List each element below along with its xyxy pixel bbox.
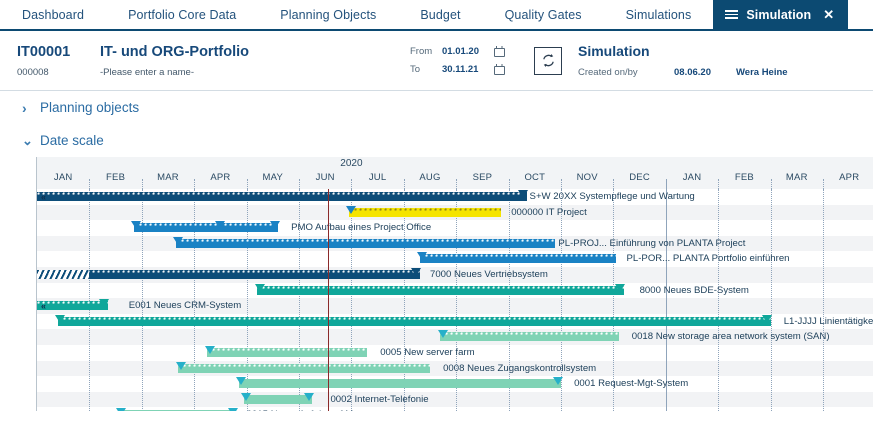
gantt-mid-marker[interactable] — [215, 221, 225, 229]
gantt-gridline — [247, 179, 248, 189]
timescale-month-dec-11: DEC — [613, 172, 665, 183]
gantt-start-marker[interactable] — [55, 315, 65, 323]
chevron-right-icon — [22, 100, 38, 116]
timescale-month-jun-5: JUN — [299, 172, 351, 183]
tab-simulation-active[interactable]: Simulation ✕ — [713, 0, 848, 29]
gantt-bar[interactable] — [37, 270, 420, 279]
gantt-bar[interactable] — [37, 301, 108, 310]
tab-label: Portfolio Core Data — [128, 8, 236, 22]
gantt-start-marker[interactable] — [205, 346, 215, 354]
section-label: Date scale — [40, 133, 104, 148]
gantt-gridline — [718, 179, 719, 189]
gantt-bar-fill — [118, 410, 236, 411]
gantt-start-marker[interactable] — [173, 237, 183, 245]
gantt-gridline — [509, 189, 510, 411]
created-label: Created on/by — [578, 67, 674, 78]
timescale-month-may-4: MAY — [247, 172, 299, 183]
created-row: Created on/by 08.06.20 Wera Heine — [578, 67, 788, 78]
chevron-down-icon — [22, 133, 38, 149]
gantt-gridline — [142, 179, 143, 189]
gantt-bar-fill — [239, 379, 561, 388]
gantt-bar-label: 8000 Neues BDE-System — [640, 285, 749, 296]
gantt-rows-area[interactable]: «S+W 20XX Systempflege und Wartung000000… — [36, 189, 873, 411]
gantt-end-marker[interactable] — [615, 284, 625, 292]
gantt-bar-label: 0018 New storage area network system (SA… — [632, 331, 830, 342]
tab-budget[interactable]: Budget — [398, 0, 482, 29]
to-row: To 30.11.21 — [410, 64, 532, 75]
portfolio-id: IT00001 — [17, 43, 100, 61]
gantt-end-marker[interactable] — [518, 190, 528, 198]
tab-portfolio-core-data[interactable]: Portfolio Core Data — [106, 0, 258, 29]
tab-label: Simulations — [626, 8, 692, 22]
gantt-bar-label: E001 Neues CRM-System — [129, 300, 242, 311]
gantt-bar-label: PL-PROJ... Einführung von PLANTA Project — [558, 238, 745, 249]
gantt-bar-label: 0008 Neues Zugangskontrollsystem — [443, 363, 596, 374]
gantt-gridline — [509, 179, 510, 189]
portfolio-id-block: IT00001 000008 — [0, 43, 100, 78]
gantt-start-marker[interactable] — [346, 206, 356, 214]
gantt-end-marker[interactable] — [99, 299, 109, 307]
gantt-bar-progress-dots — [178, 364, 430, 368]
gantt-gridline — [823, 189, 824, 411]
gantt-gridline — [718, 189, 719, 411]
from-row: From 01.01.20 — [410, 46, 532, 57]
gantt-end-marker[interactable] — [228, 408, 238, 411]
gantt-bar[interactable] — [257, 286, 624, 295]
gantt-end-marker[interactable] — [304, 393, 314, 401]
gantt-bar-progress-dots — [420, 254, 617, 258]
refresh-arrows-icon — [540, 52, 557, 69]
gantt-gridline — [351, 179, 352, 189]
gantt-bar-label: 0002 Internet-Telefonie — [330, 394, 428, 405]
gantt-gridline — [404, 179, 405, 189]
gantt-bar-progress-dots — [176, 239, 555, 243]
portfolio-name-block: IT- und ORG-Portfolio -Please enter a na… — [100, 43, 410, 78]
hamburger-menu-icon[interactable] — [725, 10, 738, 19]
timescale-month-apr-3: APR — [194, 172, 246, 183]
timescale-month-apr-15: APR — [823, 172, 873, 183]
gantt-start-marker[interactable] — [438, 330, 448, 338]
timescale-month-jul-6: JUL — [351, 172, 403, 183]
gantt-bar-progress-dots — [257, 286, 624, 290]
gantt-end-marker[interactable] — [553, 377, 563, 385]
gantt-gridline — [299, 179, 300, 189]
gantt-bar-progress-dots — [349, 208, 501, 212]
gantt-gridline — [194, 179, 195, 189]
gantt-bar-label: 0005 New server farm — [380, 347, 474, 358]
gantt-bar[interactable] — [118, 410, 236, 411]
timescale-month-nov-10: NOV — [561, 172, 613, 183]
gantt-row[interactable] — [37, 392, 873, 408]
gantt-timescale-header: 2020 JANFEBMARAPRMAYJUNJULAUGSEPOCTNOVDE… — [36, 157, 873, 189]
simulation-info-block: Simulation Created on/by 08.06.20 Wera H… — [578, 43, 788, 79]
timescale-month-jan-0: JAN — [37, 172, 89, 183]
timescale-month-sep-8: SEP — [456, 172, 508, 183]
refresh-button[interactable] — [534, 47, 562, 75]
gantt-gridline — [456, 189, 457, 411]
scroll-left-icon[interactable]: « — [41, 193, 45, 202]
to-label: To — [410, 64, 442, 75]
calendar-icon[interactable] — [494, 64, 505, 75]
gantt-bar-label: 7000 Neues Vertriebsystem — [430, 269, 548, 280]
timescale-year-label: 2020 — [37, 158, 666, 169]
gantt-start-marker[interactable] — [131, 221, 141, 229]
page-title: IT- und ORG-Portfolio — [100, 43, 410, 61]
gantt-bar[interactable] — [420, 254, 617, 263]
gantt-bar-label: S+W 20XX Systempflege und Wartung — [530, 191, 695, 202]
section-label: Planning objects — [40, 100, 139, 115]
timescale-month-feb-1: FEB — [89, 172, 141, 183]
gantt-start-marker[interactable] — [236, 377, 246, 385]
close-icon[interactable]: ✕ — [823, 8, 834, 21]
tab-label: Dashboard — [22, 8, 84, 22]
gantt-end-marker[interactable] — [762, 315, 772, 323]
tab-label: Simulation — [746, 8, 811, 22]
hatch-fill — [37, 270, 89, 279]
gantt-bar[interactable] — [440, 332, 618, 341]
simulation-title: Simulation — [578, 43, 788, 61]
tab-planning-objects[interactable]: Planning Objects — [258, 0, 398, 29]
created-by: Wera Heine — [736, 67, 788, 78]
gantt-gridline — [456, 179, 457, 189]
today-marker-line — [328, 189, 329, 411]
gantt-start-marker[interactable] — [241, 393, 251, 401]
gantt-bar-progress-dots — [37, 301, 108, 305]
timescale-month-oct-9: OCT — [509, 172, 561, 183]
gantt-bar-label: PMO Aufbau eines Project Office — [291, 222, 431, 233]
from-label: From — [410, 46, 442, 57]
gantt-bar-label: L1-JJJJ Linientätigkeiten JJJJ — [784, 316, 873, 327]
gantt-bar[interactable] — [58, 317, 771, 326]
gantt-bar[interactable] — [244, 395, 312, 404]
gantt-bar-progress-dots — [207, 348, 367, 352]
tab-quality-gates[interactable]: Quality Gates — [483, 0, 604, 29]
created-date: 08.06.20 — [674, 67, 736, 78]
gantt-gridline — [823, 179, 824, 189]
section-planning-objects[interactable]: Planning objects — [0, 91, 873, 124]
record-header: IT00001 000008 IT- und ORG-Portfolio -Pl… — [0, 31, 873, 91]
gantt-bar-fill — [244, 395, 312, 404]
gantt-bar-progress-dots — [37, 192, 527, 196]
gantt-gridline — [771, 179, 772, 189]
gantt-bar-label: 0015 Neuer Auftritt auf Messen — [247, 409, 379, 411]
timescale-month-feb-13: FEB — [718, 172, 770, 183]
scroll-left-icon[interactable]: « — [41, 302, 45, 311]
tab-label: Quality Gates — [505, 8, 582, 22]
gantt-start-marker[interactable] — [176, 362, 186, 370]
gantt-bar-progress-dots — [37, 270, 420, 274]
gantt-start-marker[interactable] — [417, 252, 427, 260]
gantt-bar-label: 0001 Request-Mgt-System — [574, 378, 688, 389]
gantt-bar-progress-dots — [58, 317, 771, 321]
gantt-end-marker[interactable] — [411, 268, 421, 276]
gantt-gridline — [613, 179, 614, 189]
to-value[interactable]: 30.11.21 — [442, 64, 494, 75]
gantt-bar-progress-dots — [440, 332, 618, 336]
gantt-bar[interactable] — [239, 379, 561, 388]
calendar-icon[interactable] — [494, 46, 505, 57]
gantt-gridline — [771, 189, 772, 411]
gantt-bar[interactable] — [178, 364, 430, 373]
gantt-bar[interactable] — [207, 348, 367, 357]
date-range-block: From 01.01.20 To 30.11.21 — [410, 46, 532, 75]
tab-label: Budget — [420, 8, 460, 22]
gantt-gridline — [561, 179, 562, 189]
tab-dashboard[interactable]: Dashboard — [0, 0, 106, 29]
tab-bar: Dashboard Portfolio Core Data Planning O… — [0, 0, 873, 31]
gantt-start-marker[interactable] — [255, 284, 265, 292]
portfolio-number: 000008 — [17, 67, 100, 78]
timescale-month-jan-12: JAN — [666, 172, 718, 183]
timescale-month-mar-14: MAR — [771, 172, 823, 183]
gantt-chart[interactable]: 2020 JANFEBMARAPRMAYJUNJULAUGSEPOCTNOVDE… — [36, 157, 873, 411]
section-date-scale[interactable]: Date scale — [0, 124, 873, 157]
gantt-bar-hatched-segment — [37, 270, 89, 279]
gantt-gridline — [666, 179, 667, 189]
gantt-bar[interactable] — [349, 208, 501, 217]
gantt-end-marker[interactable] — [270, 221, 280, 229]
gantt-bar-label: 000000 IT Project — [511, 207, 587, 218]
gantt-gridline — [89, 189, 90, 411]
tab-label: Planning Objects — [280, 8, 376, 22]
gantt-bar-label: PL-POR... PLANTA Portfolio einführen — [627, 253, 790, 264]
name-placeholder[interactable]: -Please enter a name- — [100, 67, 410, 78]
gantt-gridline — [89, 179, 90, 189]
tab-simulations[interactable]: Simulations — [604, 0, 714, 29]
gantt-start-marker[interactable] — [116, 408, 126, 411]
timescale-month-aug-7: AUG — [404, 172, 456, 183]
gantt-bar[interactable] — [37, 192, 527, 201]
from-value[interactable]: 01.01.20 — [442, 46, 494, 57]
timescale-month-mar-2: MAR — [142, 172, 194, 183]
gantt-bar[interactable] — [134, 223, 278, 232]
gantt-bar[interactable] — [176, 239, 555, 248]
gantt-bar-progress-dots — [134, 223, 278, 227]
